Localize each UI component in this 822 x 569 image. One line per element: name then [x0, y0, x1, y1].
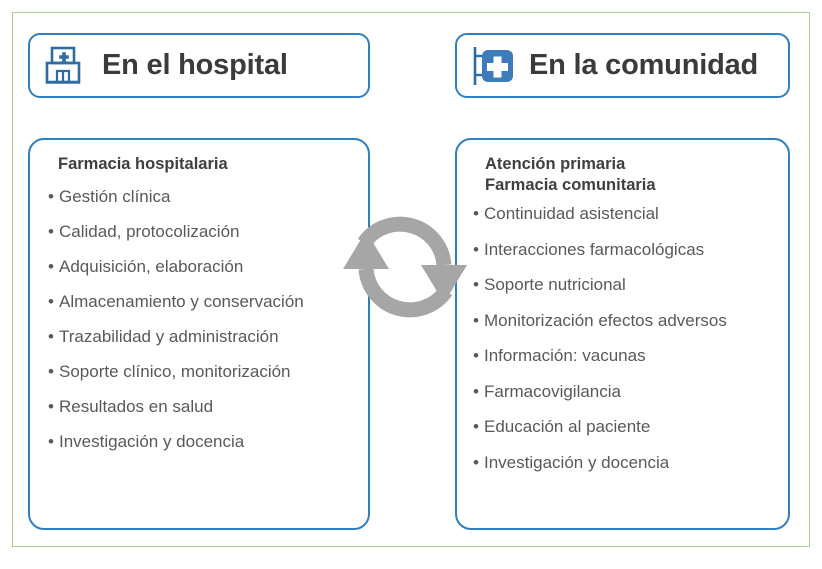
list-item-label: Continuidad asistencial: [484, 204, 659, 224]
panel-community-pharmacy: Atención primaria Farmacia comunitaria •…: [455, 138, 790, 530]
list-item: • Soporte nutricional: [473, 275, 780, 295]
list-item: • Adquisición, elaboración: [48, 257, 358, 277]
list-item: • Soporte clínico, monitorización: [48, 362, 358, 382]
list-item-label: Interacciones farmacológicas: [484, 240, 704, 260]
bullet-icon: •: [48, 223, 57, 240]
list-item: • Continuidad asistencial: [473, 204, 780, 224]
list-item: • Investigación y docencia: [473, 453, 780, 473]
panel-community-title: Atención primaria Farmacia comunitaria: [485, 154, 780, 196]
header-hospital-label: En el hospital: [102, 49, 288, 82]
panel-hospital-title-line-1: Farmacia hospitalaria: [58, 154, 358, 175]
list-item-label: Trazabilidad y administración: [59, 327, 279, 347]
header-hospital[interactable]: En el hospital: [28, 33, 370, 98]
bullet-icon: •: [48, 188, 57, 205]
panel-community-title-line-1: Atención primaria: [485, 154, 780, 175]
panel-hospital-pharmacy: Farmacia hospitalaria • Gestión clínica …: [28, 138, 370, 530]
list-item-label: Soporte nutricional: [484, 275, 626, 295]
list-item-label: Monitorización efectos adversos: [484, 311, 727, 331]
list-item-label: Adquisición, elaboración: [59, 257, 243, 277]
list-item-label: Farmacovigilancia: [484, 382, 621, 402]
header-community-label: En la comunidad: [529, 49, 758, 82]
list-item: • Gestión clínica: [48, 187, 358, 207]
bullet-icon: •: [473, 383, 482, 400]
list-item-label: Información: vacunas: [484, 346, 646, 366]
list-item: • Trazabilidad y administración: [48, 327, 358, 347]
bullet-icon: •: [48, 363, 57, 380]
bullet-icon: •: [48, 328, 57, 345]
bullet-icon: •: [473, 454, 482, 471]
list-item: • Calidad, protocolización: [48, 222, 358, 242]
panel-community-title-line-2: Farmacia comunitaria: [485, 175, 780, 196]
list-item: • Monitorización efectos adversos: [473, 311, 780, 331]
list-item: • Almacenamiento y conservación: [48, 292, 358, 312]
list-item-label: Calidad, protocolización: [59, 222, 240, 242]
header-community[interactable]: En la comunidad: [455, 33, 790, 98]
pharmacy-cross-sign-icon: [471, 44, 517, 88]
list-item-label: Investigación y docencia: [484, 453, 669, 473]
list-item: • Información: vacunas: [473, 346, 780, 366]
list-item-label: Soporte clínico, monitorización: [59, 362, 291, 382]
list-item: • Educación al paciente: [473, 417, 780, 437]
list-item-label: Resultados en salud: [59, 397, 213, 417]
bullet-icon: •: [48, 293, 57, 310]
panel-community-list: • Continuidad asistencial • Interaccione…: [473, 204, 780, 473]
bullet-icon: •: [48, 398, 57, 415]
bidirectional-cycle-arrows-icon: [320, 203, 480, 358]
hospital-building-icon: [44, 44, 90, 88]
list-item-label: Investigación y docencia: [59, 432, 244, 452]
bullet-icon: •: [473, 418, 482, 435]
list-item-label: Almacenamiento y conservación: [59, 292, 304, 312]
bullet-icon: •: [48, 258, 57, 275]
panel-hospital-list: • Gestión clínica • Calidad, protocoliza…: [48, 187, 358, 452]
panel-hospital-title: Farmacia hospitalaria: [58, 154, 358, 175]
list-item-label: Educación al paciente: [484, 417, 650, 437]
list-item: • Resultados en salud: [48, 397, 358, 417]
list-item-label: Gestión clínica: [59, 187, 171, 207]
list-item: • Investigación y docencia: [48, 432, 358, 452]
bullet-icon: •: [48, 433, 57, 450]
diagram-canvas: En el hospital En la comunidad Farmacia …: [0, 0, 822, 569]
list-item: • Farmacovigilancia: [473, 382, 780, 402]
list-item: • Interacciones farmacológicas: [473, 240, 780, 260]
